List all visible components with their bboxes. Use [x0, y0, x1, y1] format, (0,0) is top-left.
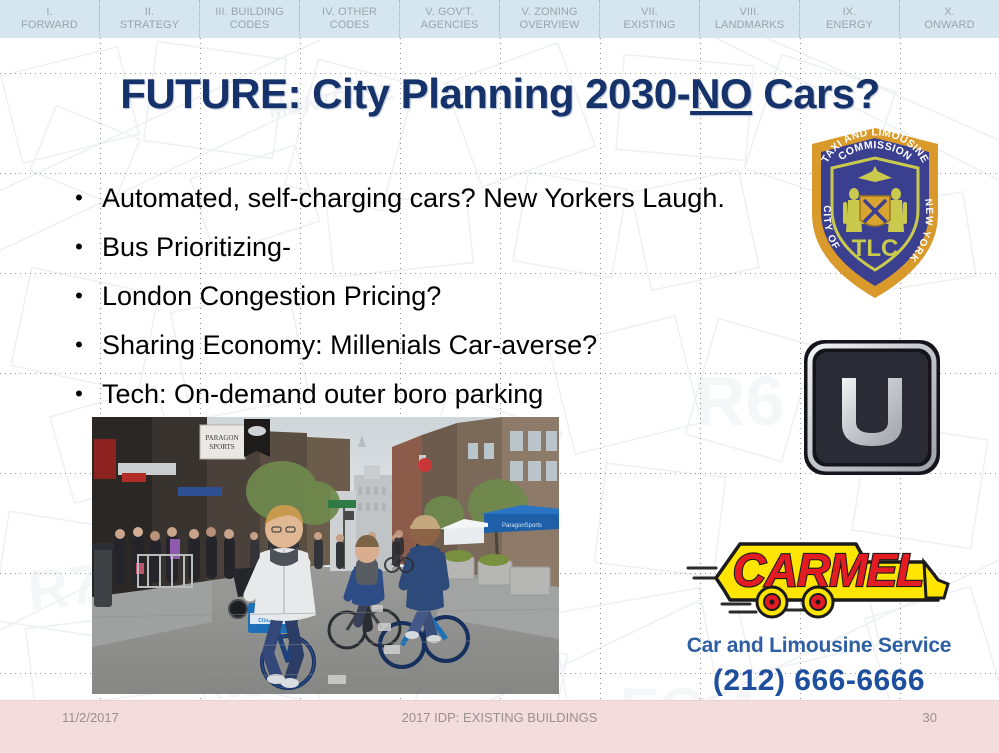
carmel-logo: CARMEL Car and Limousine Service (212) 6… — [686, 528, 952, 696]
nav-tab-number: V. GOV'T. — [425, 6, 473, 19]
nav-tab-label: ENERGY — [826, 19, 873, 32]
nav-tab-label: OVERVIEW — [520, 19, 580, 32]
nav-tab-forward[interactable]: I. FORWARD — [0, 0, 100, 38]
bullet-marker-icon: • — [56, 377, 102, 411]
bullet-marker-icon: • — [56, 181, 102, 215]
nav-tab-landmarks[interactable]: VIII. LANDMARKS — [700, 0, 800, 38]
presentation-slide: MONTROSE R6 R7A EC-4 R6B I. FORWARD — [0, 0, 999, 753]
title-part-1: FUTURE: City Planning 2030- — [120, 70, 690, 117]
tlc-initials: TLC — [852, 235, 899, 262]
bullet-marker-icon: • — [56, 230, 102, 264]
svg-text:PARAGON: PARAGON — [205, 434, 238, 442]
bullet-text: London Congestion Pricing? — [102, 279, 441, 313]
nav-tab-number: II. — [145, 6, 154, 19]
nav-tab-number: V. ZONING — [521, 6, 577, 19]
list-item: • Sharing Economy: Millenials Car-averse… — [56, 328, 846, 377]
bullet-list: • Automated, self-charging cars? New Yor… — [56, 181, 846, 426]
nav-tab-label: AGENCIES — [421, 19, 479, 32]
nav-tab-number: III. BUILDING — [215, 6, 284, 19]
street-scene-photo: PARAGON SPORTS — [92, 417, 559, 694]
nav-tab-govt-agencies[interactable]: V. GOV'T. AGENCIES — [400, 0, 500, 38]
svg-text:SPORTS: SPORTS — [209, 443, 234, 451]
nav-tab-number: VIII. — [739, 6, 759, 19]
nav-tab-energy[interactable]: IX. ENERGY — [800, 0, 900, 38]
list-item: • Automated, self-charging cars? New Yor… — [56, 181, 846, 230]
nav-tab-number: VII. — [641, 6, 658, 19]
bullet-text: Bus Prioritizing- — [102, 230, 291, 264]
bullet-marker-icon: • — [56, 328, 102, 362]
nav-tab-other-codes[interactable]: IV. OTHER CODES — [300, 0, 400, 38]
bullet-text: Automated, self-charging cars? New Yorke… — [102, 181, 725, 215]
nav-tab-label: EXISTING — [623, 19, 675, 32]
list-item: • London Congestion Pricing? — [56, 279, 846, 328]
nav-tab-existing[interactable]: VII. EXISTING — [600, 0, 700, 38]
nav-tab-number: I. — [46, 6, 52, 19]
uber-logo — [802, 338, 942, 477]
carmel-wordmark: CARMEL — [733, 544, 924, 596]
list-item: • Bus Prioritizing- — [56, 230, 846, 279]
list-item: • Tech: On-demand outer boro parking — [56, 377, 846, 426]
bullet-marker-icon: • — [56, 279, 102, 313]
nav-tab-number: IX. — [843, 6, 857, 19]
slide-title: FUTURE: City Planning 2030-NO Cars? — [60, 70, 940, 118]
footer-page-number: 30 — [923, 710, 937, 725]
nav-tab-strategy[interactable]: II. STRATEGY — [100, 0, 200, 38]
carmel-phone-number: (212) 666-6666 — [686, 664, 952, 698]
footer-deck-title: 2017 IDP: EXISTING BUILDINGS — [0, 710, 999, 725]
nav-tab-label: LANDMARKS — [715, 19, 784, 32]
slide-footer: 11/2/2017 2017 IDP: EXISTING BUILDINGS 3… — [0, 700, 999, 753]
title-part-2: Cars? — [752, 70, 880, 117]
nav-tab-zoning-overview[interactable]: V. ZONING OVERVIEW — [500, 0, 600, 38]
nav-tab-number: X. — [944, 6, 955, 19]
nav-tab-label: CODES — [230, 19, 270, 32]
bullet-text: Sharing Economy: Millenials Car-averse? — [102, 328, 597, 362]
title-emphasis-no: NO — [690, 70, 752, 117]
nav-tab-building-codes[interactable]: III. BUILDING CODES — [200, 0, 300, 38]
carmel-tagline: Car and Limousine Service — [686, 634, 952, 658]
nav-tab-number: IV. OTHER — [322, 6, 377, 19]
nav-tab-onward[interactable]: X. ONWARD — [900, 0, 999, 38]
nav-tab-label: STRATEGY — [120, 19, 179, 32]
nav-tab-label: ONWARD — [924, 19, 974, 32]
bullet-text: Tech: On-demand outer boro parking — [102, 377, 543, 411]
nav-tab-label: CODES — [330, 19, 370, 32]
svg-text:ParagonSports: ParagonSports — [502, 523, 542, 529]
tlc-badge-logo: TLC TAXI AND LIMOUSINE COMMISSION CITY O… — [806, 122, 944, 302]
section-navigation-bar: I. FORWARD II. STRATEGY III. BUILDING CO… — [0, 0, 999, 38]
nav-tab-label: FORWARD — [21, 19, 78, 32]
